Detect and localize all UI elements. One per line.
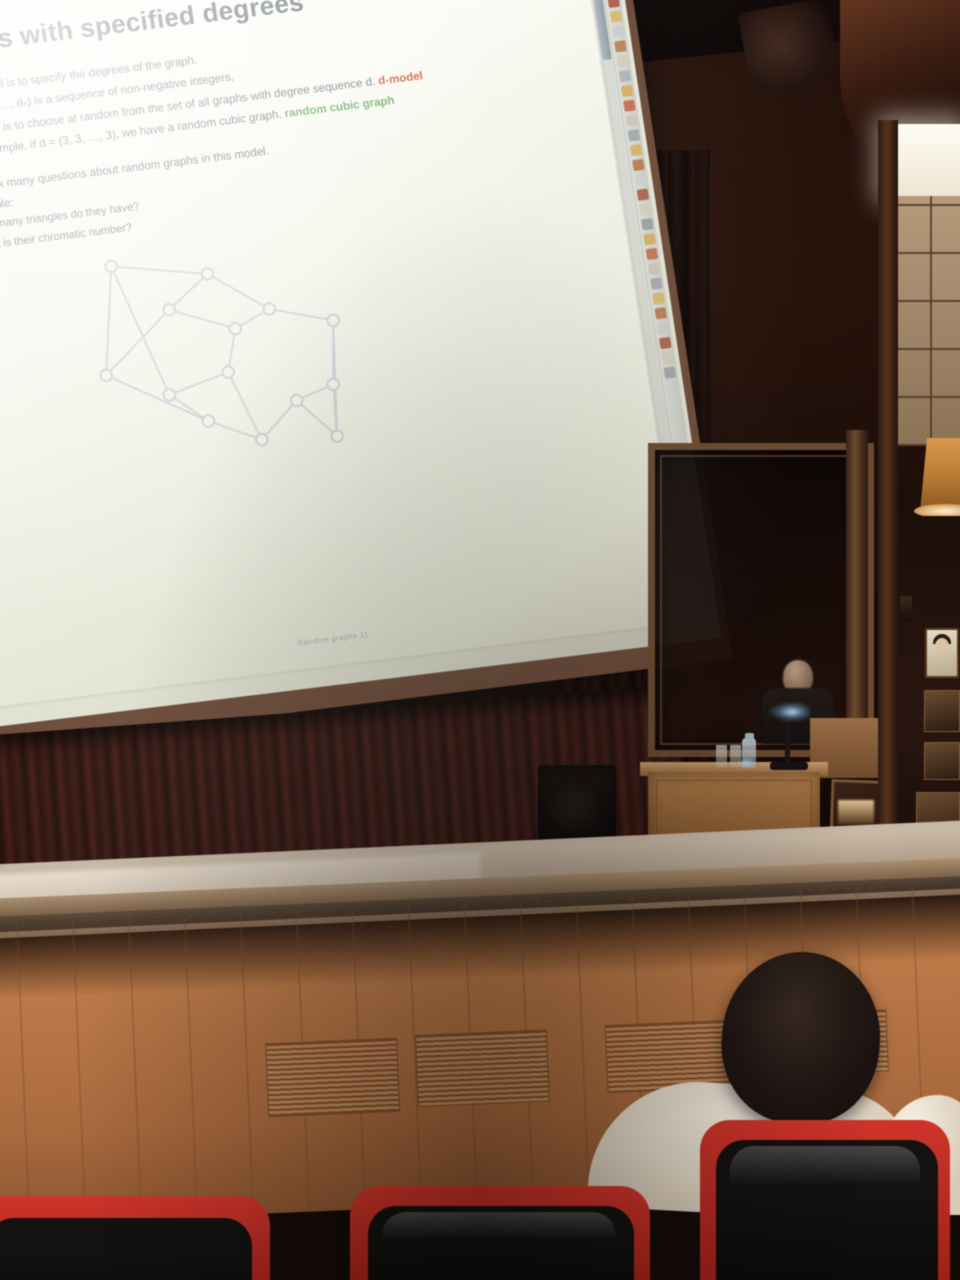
seat-highlight [730, 1146, 920, 1186]
water-bottle-cap [745, 733, 754, 740]
wall-air-vent [415, 1030, 550, 1107]
graph-edge [111, 262, 169, 400]
leaning-picture-highlight [838, 800, 874, 824]
slide-highlight-red: d-model [377, 70, 423, 87]
framed-picture [924, 690, 960, 732]
graph-edge [269, 301, 333, 328]
graph-node [327, 314, 340, 327]
ceiling-light-fixture [738, 0, 842, 102]
graph-node [263, 303, 276, 316]
table-reflection-glow [737, 758, 755, 768]
graph-node [331, 430, 344, 443]
dock-icon-11[interactable] [623, 100, 636, 112]
dock-icon-5[interactable] [609, 11, 622, 23]
dock-icon-12[interactable] [625, 114, 638, 126]
graph-node [201, 268, 214, 281]
dock-icon-4[interactable] [607, 0, 620, 8]
graph-node [222, 366, 235, 379]
wall-air-vent [265, 1038, 400, 1117]
framed-picture [924, 742, 960, 780]
graph-edge [106, 364, 208, 433]
graph-node [163, 303, 176, 316]
dock-icon-6[interactable] [611, 25, 624, 37]
wall-lamp [920, 438, 960, 512]
graph-edge [228, 369, 262, 442]
seat-highlight [382, 1212, 616, 1240]
graph-node [255, 433, 268, 446]
wooden-truss-frame [648, 443, 874, 757]
graph-node [327, 378, 340, 391]
slide-page: Graphs with specified degrees Another mo… [0, 0, 685, 707]
theater-seat-back[interactable] [0, 1218, 252, 1280]
projection-screen: File Edit View Go Bookmarks Tools Help [0, 0, 733, 751]
dock-icon-14[interactable] [629, 144, 642, 156]
dock-icon-22[interactable] [647, 263, 660, 275]
dock-icon-26[interactable] [656, 322, 669, 334]
graph-edge [169, 302, 235, 336]
dock-icon-18[interactable] [638, 203, 651, 215]
dock-icon-15[interactable] [632, 159, 645, 171]
graph-edge [208, 415, 261, 446]
cubic-graph-diagram [42, 208, 407, 495]
framed-portrait [925, 628, 959, 678]
dock-icon-16[interactable] [634, 174, 647, 186]
graph-edge [167, 372, 230, 395]
wall-sconce [900, 596, 912, 622]
graph-edge [208, 267, 270, 316]
portrait-face [935, 638, 949, 654]
graph-node [202, 415, 215, 428]
dock-icon-27[interactable] [659, 337, 672, 349]
drinking-glass [716, 745, 727, 767]
graph-node [105, 260, 118, 273]
dock-icon-28[interactable] [661, 352, 674, 364]
dock-icon-20[interactable] [643, 233, 656, 245]
wall-column [878, 120, 898, 880]
graph-node [100, 369, 113, 382]
dock-icon-25[interactable] [654, 307, 667, 319]
desk-lamp-base [770, 762, 808, 770]
dock-icon-21[interactable] [645, 248, 658, 260]
dock-icon-8[interactable] [616, 55, 629, 67]
dock-icon-9[interactable] [618, 70, 631, 82]
dock-icon-7[interactable] [614, 40, 627, 52]
dock-icon-19[interactable] [641, 218, 654, 230]
cubic-graph-svg [42, 208, 407, 495]
dock-icon-17[interactable] [636, 189, 649, 201]
dock-icon-23[interactable] [650, 278, 663, 290]
graph-edge [222, 329, 242, 372]
dock-icon-24[interactable] [652, 292, 665, 304]
screen-surface: File Edit View Go Bookmarks Tools Help [0, 0, 722, 728]
desk-lamp-glow [770, 702, 810, 722]
lattice-panel [896, 196, 960, 446]
dock-icon-10[interactable] [620, 85, 633, 97]
dock-icon-29[interactable] [663, 367, 676, 379]
graph-node [290, 394, 303, 407]
graph-node [229, 322, 242, 335]
graph-node [163, 388, 176, 401]
photo-scene: File Edit View Go Bookmarks Tools Help [0, 0, 960, 1280]
graph-edge [111, 255, 207, 286]
dock-icon-13[interactable] [627, 129, 640, 141]
